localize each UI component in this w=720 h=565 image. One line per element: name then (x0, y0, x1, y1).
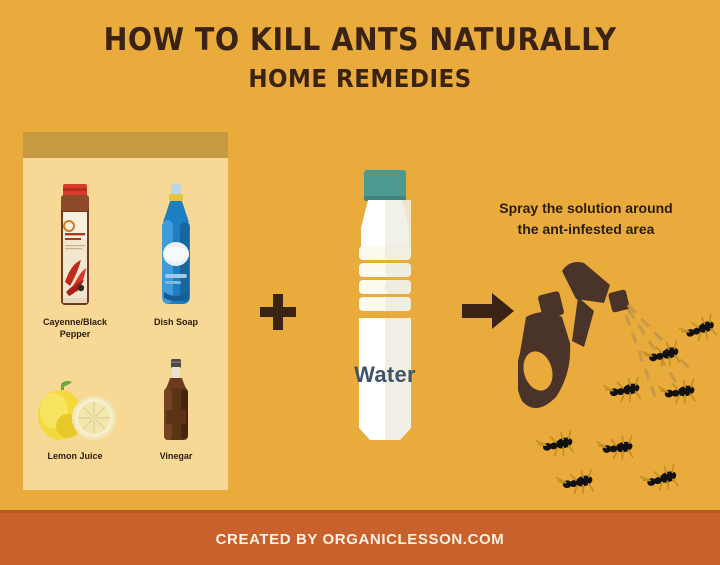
right-arrow-icon (462, 291, 514, 336)
pepper-jar-icon (25, 180, 125, 310)
lemon-icon (25, 346, 125, 444)
footer-credit: CREATED BY ORGANICLESSON.COM (216, 531, 505, 548)
ingredients-grid: Cayenne/BlackPepper (23, 158, 228, 490)
page-subtitle: HOME REMEDIES (29, 66, 691, 92)
ingredients-panel: Cayenne/BlackPepper (23, 132, 228, 490)
ingredient-item-pepper: Cayenne/BlackPepper (25, 180, 125, 340)
water-bottle-label: Water (326, 362, 444, 388)
water-bottle-icon (326, 170, 444, 460)
vinegar-bottle-icon (126, 346, 226, 444)
ingredient-item-dish-soap: Dish Soap (126, 180, 226, 328)
dish-soap-bottle-icon (126, 180, 226, 310)
instruction-line-2: the ant-infested area (518, 221, 655, 237)
spray-scene (518, 255, 720, 518)
ingredient-label-lemon: Lemon Juice (25, 450, 125, 462)
title-block: HOW TO KILL ANTS NATURALLY HOME REMEDIES (0, 24, 720, 92)
page-title: HOW TO KILL ANTS NATURALLY (29, 24, 691, 57)
panel-header-strip (23, 132, 228, 158)
footer-bar: CREATED BY ORGANICLESSON.COM (0, 510, 720, 565)
ingredient-item-lemon: Lemon Juice (25, 346, 125, 462)
ingredient-label-dish-soap: Dish Soap (126, 316, 226, 328)
plus-sign-icon (258, 292, 298, 337)
instruction-line-1: Spray the solution around (499, 200, 672, 216)
ingredient-item-vinegar: Vinegar (126, 346, 226, 462)
instruction-text: Spray the solution around the ant-infest… (470, 198, 702, 240)
infographic-root: HOW TO KILL ANTS NATURALLY HOME REMEDIES (0, 0, 720, 565)
ingredient-label-vinegar: Vinegar (126, 450, 226, 462)
ingredient-label-pepper: Cayenne/BlackPepper (25, 316, 125, 340)
